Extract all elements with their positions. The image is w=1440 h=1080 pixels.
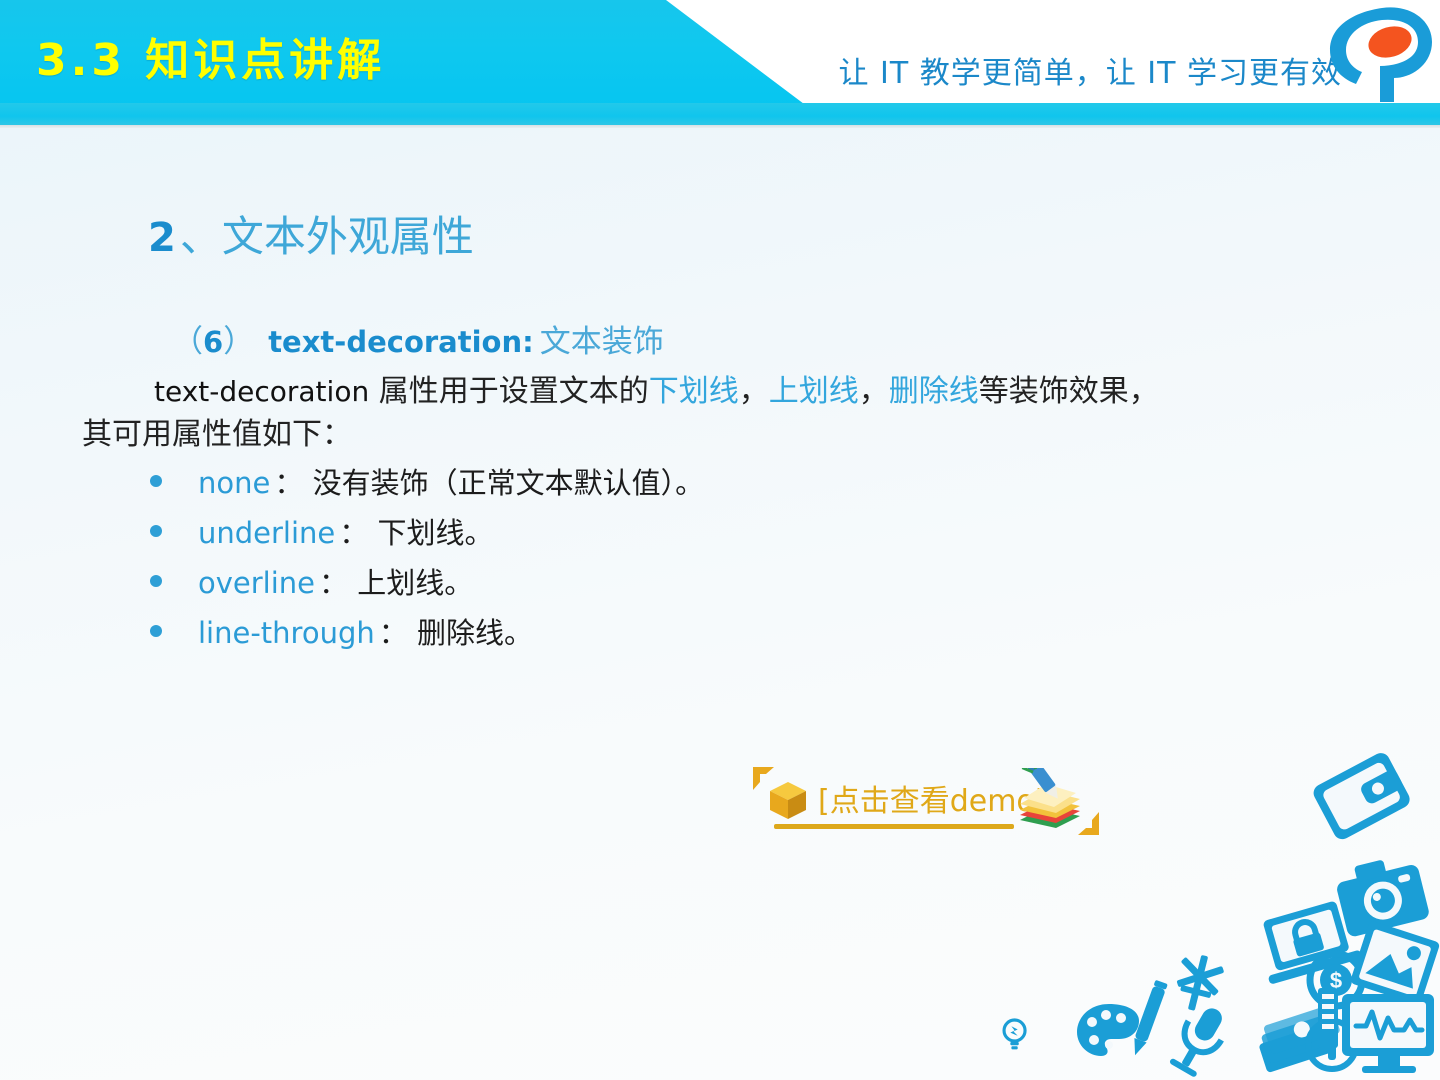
dollar-coin-icon: $ xyxy=(1310,954,1362,1006)
list-item: line-through ： 删除线。 xyxy=(150,610,1250,660)
list-item: overline ： 上划线。 xyxy=(150,560,1250,610)
bullet-key: overline xyxy=(198,566,315,600)
sub-property-name: text-decoration: xyxy=(268,325,534,359)
info-circle-icon xyxy=(1308,1021,1356,1069)
bullet-text: ： 删除线。 xyxy=(379,610,533,652)
bullet-text: ： 上划线。 xyxy=(319,560,473,602)
wallet-icon xyxy=(1310,750,1412,842)
lightbulb-icon xyxy=(1004,1020,1025,1049)
paragraph-sep1: ， xyxy=(739,374,769,409)
bullet-key: line-through xyxy=(198,616,375,650)
demo-underline-bar xyxy=(774,824,1014,829)
section-heading: 2、文本外观属性 xyxy=(148,212,474,262)
bullet-dot-icon xyxy=(150,475,162,487)
sub-paren-close: ） xyxy=(223,324,254,360)
logo-p-swirl-icon xyxy=(1324,2,1436,106)
bullet-text: ： 下划线。 xyxy=(339,510,493,552)
corner-bracket-bottom-right-icon xyxy=(1074,810,1100,836)
list-item: underline ： 下划线。 xyxy=(150,510,1250,560)
slide-header: 3.3 知识点讲解 让 IT 教学更简单，让 IT 学习更有效 xyxy=(0,0,1440,128)
paragraph-highlight-overline: 上划线 xyxy=(769,374,859,409)
bullet-key: none xyxy=(198,466,270,500)
monitor-waveform-icon xyxy=(1318,988,1434,1073)
bullet-text: ： 没有装饰（正常文本默认值）。 xyxy=(274,460,704,502)
laptop-lock-icon xyxy=(1253,898,1363,985)
section-title-cn: 、文本外观属性 xyxy=(180,212,474,261)
header-bottom-bar xyxy=(0,103,1440,125)
picture-frame-icon xyxy=(1350,920,1440,1006)
bullet-dot-icon xyxy=(150,575,162,587)
sub-paren-open: （ xyxy=(172,324,203,360)
palette-and-pen-icon xyxy=(1077,980,1168,1058)
sub-heading: （6）text-decoration:文本装饰 xyxy=(172,316,664,361)
paragraph-highlight-linethrough: 删除线 xyxy=(889,374,979,409)
paragraph-lead-code: text-decoration xyxy=(154,375,369,408)
paragraph-sep2: ， xyxy=(859,374,889,409)
paragraph-part1: 属性用于设置文本的 xyxy=(369,374,649,409)
bullet-list: none ： 没有装饰（正常文本默认值）。 underline ： 下划线。 o… xyxy=(150,460,1250,660)
bullet-dot-icon xyxy=(150,525,162,537)
banknotes-icon xyxy=(1253,1004,1345,1073)
svg-text:$: $ xyxy=(1330,968,1342,993)
demo-link-label[interactable]: [点击查看demo] xyxy=(818,776,1047,820)
paragraph-highlight-underline: 下划线 xyxy=(649,374,739,409)
bullet-key: underline xyxy=(198,516,335,550)
slide-canvas: 3.3 知识点讲解 让 IT 教学更简单，让 IT 学习更有效 2、文本外观属性… xyxy=(0,0,1440,1080)
sub-index: 6 xyxy=(203,325,223,359)
list-item: none ： 没有装饰（正常文本默认值）。 xyxy=(150,460,1250,510)
microphone-icon xyxy=(1165,1000,1233,1080)
section-number: 2 xyxy=(148,215,176,261)
star-burst-icon xyxy=(1170,950,1227,1015)
body-paragraph: text-decoration 属性用于设置文本的下划线，上划线，删除线等装饰效… xyxy=(82,370,1382,456)
demo-link-box[interactable]: [点击查看demo] xyxy=(752,766,1100,836)
paragraph-part2: 等装饰效果， xyxy=(979,374,1159,409)
paragraph-line2: 其可用属性值如下： xyxy=(82,417,352,452)
slide-title: 3.3 知识点讲解 xyxy=(36,24,385,88)
sub-property-cn: 文本装饰 xyxy=(540,324,664,360)
orange-cube-icon xyxy=(766,778,810,822)
bullet-dot-icon xyxy=(150,625,162,637)
camera-icon xyxy=(1332,852,1430,938)
header-tagline: 让 IT 教学更简单，让 IT 学习更有效 xyxy=(839,48,1343,92)
header-bar-shadow xyxy=(0,125,1440,128)
